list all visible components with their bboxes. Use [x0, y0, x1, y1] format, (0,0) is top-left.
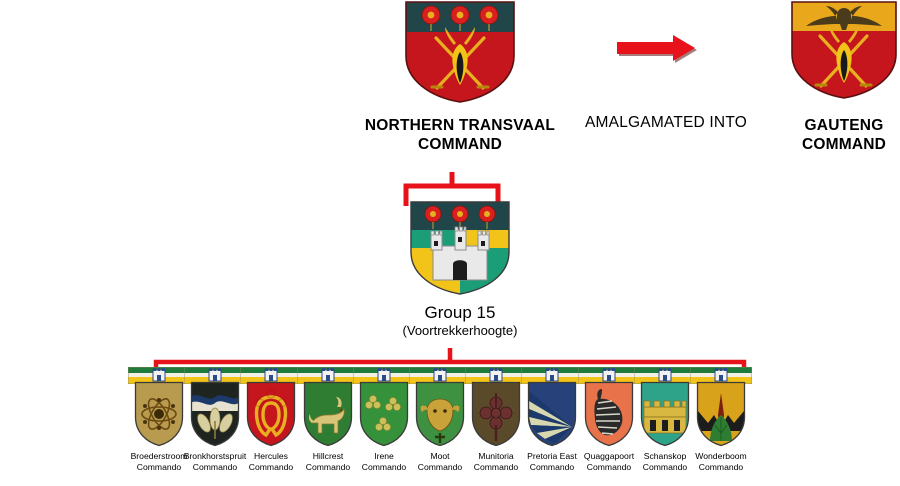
- gauteng-command-label: GAUTENG COMMAND: [754, 117, 900, 155]
- castle-badge: [378, 368, 390, 381]
- amalgamated-into-label: AMALGAMATED INTO: [566, 114, 766, 133]
- commando-shield-schanskop: [640, 381, 690, 447]
- castle-badge: [153, 368, 165, 381]
- castle-badge: [603, 368, 615, 381]
- org-chart-canvas: NORTHERN TRANSVAAL COMMAND AMALGAMATED I…: [0, 0, 900, 486]
- commando-shield-hercules: [246, 381, 296, 447]
- commando-shield-bronkhorstspruit: [190, 381, 240, 447]
- castle-badge: [490, 368, 502, 381]
- commando-shield-hillcrest: [303, 381, 353, 447]
- castle-badge: [659, 368, 671, 381]
- northern-transvaal-command-shield: [404, 0, 516, 104]
- commando-shield-munitoria: [471, 381, 521, 447]
- castle-badge: [265, 368, 277, 381]
- commando-label: Wonderboom Commando: [682, 451, 760, 473]
- castle-badge: [434, 368, 446, 381]
- commando-shield-quaggapoort: [584, 381, 634, 447]
- commando-shield-wonderboom: [696, 381, 746, 447]
- castle-badge: [209, 368, 221, 381]
- castle-badge: [715, 368, 727, 381]
- commando-shield-moot: [415, 381, 465, 447]
- northern-transvaal-command-label: NORTHERN TRANSVAAL COMMAND: [350, 117, 570, 155]
- castle-badge: [322, 368, 334, 381]
- right-arrow-icon: [611, 32, 699, 64]
- group-15-location: (Voortrekkerhoogte): [380, 323, 540, 339]
- commando-shield-irene: [359, 381, 409, 447]
- castle-badge: [546, 368, 558, 381]
- gauteng-command-shield: [790, 0, 898, 100]
- group-15-title: Group 15: [380, 303, 540, 324]
- group-15-shield: [409, 200, 511, 296]
- commando-shield-broederstroom: [134, 381, 184, 447]
- commando-shield-pretoria-east: [527, 381, 577, 447]
